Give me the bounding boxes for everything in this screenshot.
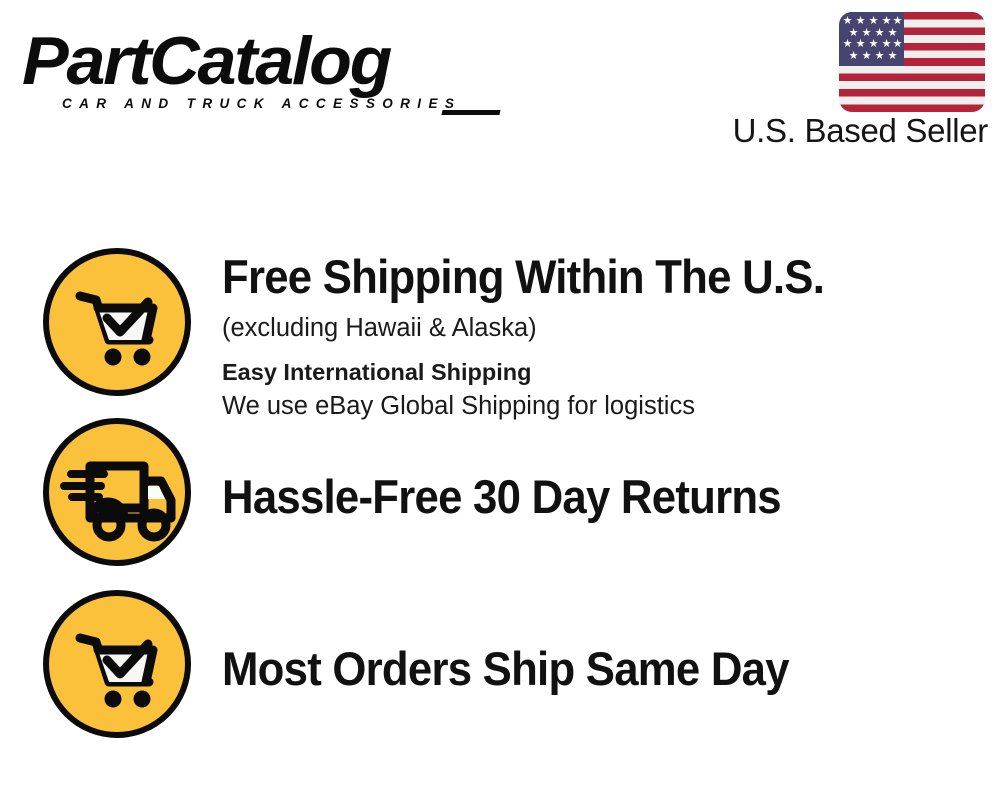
benefit-subline-exclusions: (excluding Hawaii & Alaska) (222, 311, 982, 345)
benefit-headline: Most Orders Ship Same Day (222, 642, 929, 696)
benefit-subline-international: Easy International Shipping (222, 355, 982, 389)
us-based-seller-label: U.S. Based Seller (718, 112, 988, 150)
brand-wordmark: PartCatalog (22, 22, 390, 100)
benefit-text: Free Shipping Within The U.S. (excluding… (222, 250, 982, 423)
page-header: PartCatalog CAR AND TRUCK ACCESSORIES ★ … (0, 0, 1000, 175)
benefit-row: Hassle-Free 30 Day Returns (0, 412, 1000, 584)
us-flag-icon: ★ ★ ★ ★ ★ ★ ★ ★ ★ ★ ★ ★ ★ ★ ★ ★ ★ ★ (839, 12, 985, 112)
benefit-text: Hassle-Free 30 Day Returns (222, 470, 982, 524)
brand-tagline: CAR AND TRUCK ACCESSORIES (62, 96, 461, 111)
us-based-seller-block: ★ ★ ★ ★ ★ ★ ★ ★ ★ ★ ★ ★ ★ ★ ★ ★ ★ ★ U.S.… (718, 8, 988, 158)
benefit-headline: Hassle-Free 30 Day Returns (222, 470, 929, 524)
shopping-cart-check-icon (43, 248, 191, 396)
delivery-truck-icon (43, 418, 191, 566)
brand-logo: PartCatalog CAR AND TRUCK ACCESSORIES (22, 22, 492, 117)
benefit-row: Most Orders Ship Same Day (0, 584, 1000, 756)
shopping-cart-check-icon (43, 590, 191, 738)
benefit-headline: Free Shipping Within The U.S. (222, 250, 929, 304)
brand-underline-rule (441, 110, 500, 115)
flag-canton: ★ ★ ★ ★ ★ ★ ★ ★ ★ ★ ★ ★ ★ ★ ★ ★ ★ ★ (839, 12, 904, 66)
benefit-text: Most Orders Ship Same Day (222, 642, 982, 696)
benefit-row: Free Shipping Within The U.S. (excluding… (0, 242, 1000, 417)
